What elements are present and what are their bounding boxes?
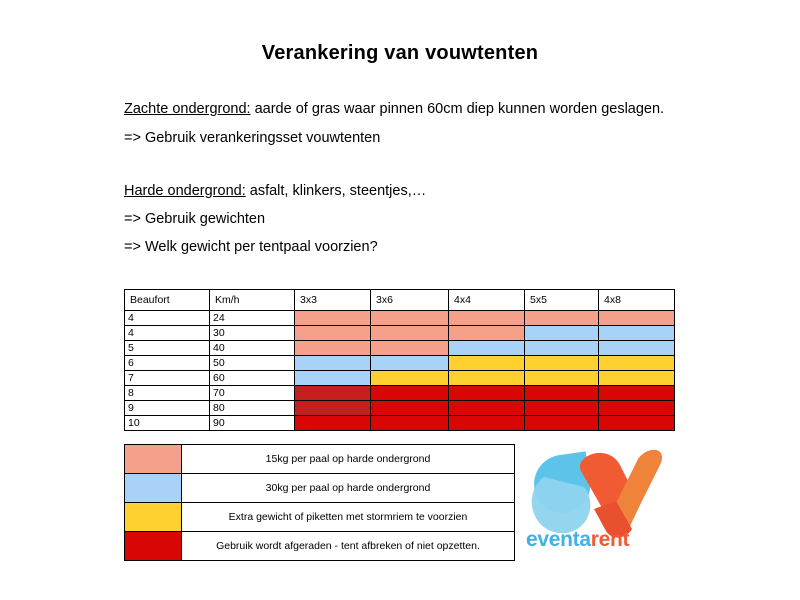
table-cell-status [525,356,599,371]
table-cell-beaufort: 9 [125,401,210,416]
table-cell-kmh: 60 [210,371,295,386]
table-cell-status [295,326,371,341]
legend-row: Gebruik wordt afgeraden - tent afbreken … [125,532,515,561]
table-row: 650 [125,356,675,371]
paragraph-hard-action-2: => Welk gewicht per tentpaal voorzien? [124,239,378,255]
legend-color-swatch [125,532,182,561]
table-cell-status [599,371,675,386]
table-cell-status [295,401,371,416]
legend-description: 30kg per paal op harde ondergrond [182,474,515,503]
table-header-cell: 3x6 [371,290,449,311]
table-cell-status [449,341,525,356]
legend-color-swatch [125,503,182,532]
table-cell-status [371,371,449,386]
table-cell-beaufort: 4 [125,326,210,341]
table-header-cell: 5x5 [525,290,599,311]
table-cell-status [371,416,449,431]
table-row: 430 [125,326,675,341]
table-cell-status [371,326,449,341]
legend-row: Extra gewicht of piketten met stormriem … [125,503,515,532]
table-body: 4244305406507608709801090 [125,311,675,431]
table-cell-status [599,401,675,416]
legend-row: 15kg per paal op harde ondergrond [125,445,515,474]
table-cell-status [599,326,675,341]
table-cell-status [371,341,449,356]
paragraph-soft-action: => Gebruik verankeringsset vouwtenten [124,130,380,146]
table-row: 760 [125,371,675,386]
table-cell-status [295,311,371,326]
table-cell-status [525,326,599,341]
table-header-cell: 4x4 [449,290,525,311]
legend-description: Gebruik wordt afgeraden - tent afbreken … [182,532,515,561]
logo-wordmark: eventarent [526,528,629,552]
legend-table: 15kg per paal op harde ondergrond30kg pe… [124,444,515,561]
table-row: 1090 [125,416,675,431]
table-cell-beaufort: 7 [125,371,210,386]
table-header-row: Beaufort Km/h 3x3 3x6 4x4 5x5 4x8 [125,290,675,311]
wind-force-table: Beaufort Km/h 3x3 3x6 4x4 5x5 4x8 424430… [124,289,675,431]
table-cell-beaufort: 6 [125,356,210,371]
table-cell-status [599,386,675,401]
legend-row: 30kg per paal op harde ondergrond [125,474,515,503]
table-row: 980 [125,401,675,416]
legend-body: 15kg per paal op harde ondergrond30kg pe… [125,445,515,561]
table-cell-status [599,356,675,371]
hard-ground-label: Harde ondergrond: [124,183,246,199]
table-cell-beaufort: 10 [125,416,210,431]
legend-description: Extra gewicht of piketten met stormriem … [182,503,515,532]
table-header-cell: 3x3 [295,290,371,311]
table-cell-status [295,416,371,431]
table-cell-kmh: 50 [210,356,295,371]
table-cell-status [295,356,371,371]
paragraph-soft-ground: Zachte ondergrond: aarde of gras waar pi… [124,101,664,117]
table-cell-beaufort: 5 [125,341,210,356]
table-cell-status [525,311,599,326]
table-cell-status [449,386,525,401]
table-cell-status [449,311,525,326]
table-cell-status [371,401,449,416]
table-cell-kmh: 90 [210,416,295,431]
slide-page: Verankering van vouwtenten Zachte onderg… [0,0,800,600]
table-cell-status [449,416,525,431]
table-cell-status [295,386,371,401]
logo-word-second: rent [591,528,629,551]
table-cell-beaufort: 8 [125,386,210,401]
legend-color-swatch [125,474,182,503]
table-row: 424 [125,311,675,326]
soft-ground-text: aarde of gras waar pinnen 60cm diep kunn… [251,101,665,117]
soft-ground-label: Zachte ondergrond: [124,101,251,117]
table-cell-status [525,341,599,356]
paragraph-hard-ground: Harde ondergrond: asfalt, klinkers, stee… [124,183,426,199]
table-cell-status [599,341,675,356]
table-cell-kmh: 40 [210,341,295,356]
table-header-cell: 4x8 [599,290,675,311]
hard-ground-text: asfalt, klinkers, steentjes,… [246,183,427,199]
table-cell-status [371,356,449,371]
table-row: 870 [125,386,675,401]
table-cell-status [525,401,599,416]
table-cell-kmh: 70 [210,386,295,401]
table-cell-status [371,386,449,401]
table-cell-status [449,326,525,341]
table-cell-kmh: 24 [210,311,295,326]
table-cell-status [449,371,525,386]
table-cell-status [599,311,675,326]
table-cell-status [525,386,599,401]
table-cell-kmh: 30 [210,326,295,341]
table-cell-status [525,371,599,386]
table-header-cell: Beaufort [125,290,210,311]
table-cell-status [599,416,675,431]
paragraph-hard-action-1: => Gebruik gewichten [124,211,265,227]
legend-color-swatch [125,445,182,474]
table-cell-status [295,371,371,386]
table-cell-beaufort: 4 [125,311,210,326]
page-title: Verankering van vouwtenten [0,42,800,65]
table-cell-kmh: 80 [210,401,295,416]
table-cell-status [371,311,449,326]
table-cell-status [449,356,525,371]
table-header-cell: Km/h [210,290,295,311]
table-cell-status [295,341,371,356]
table-cell-status [449,401,525,416]
table-cell-status [525,416,599,431]
logo-word-first: eventa [526,528,591,551]
table-row: 540 [125,341,675,356]
legend-description: 15kg per paal op harde ondergrond [182,445,515,474]
